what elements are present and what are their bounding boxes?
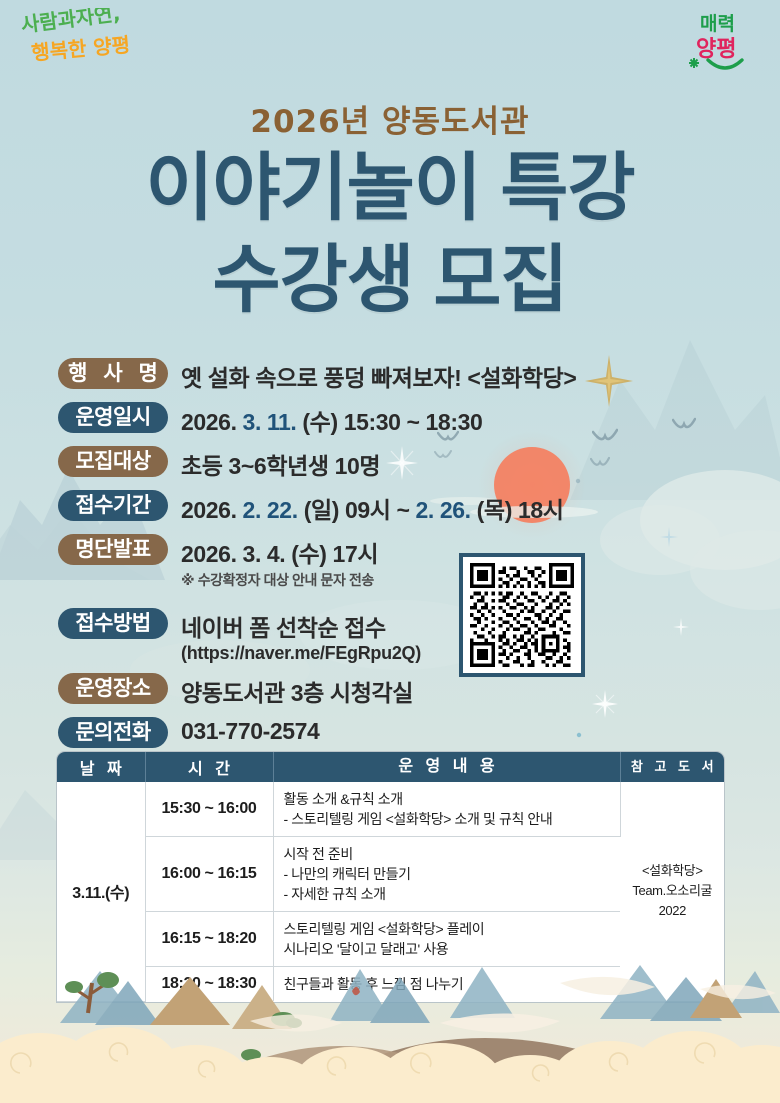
cell-time: 15:30 ~ 16:00 [145,782,273,837]
cell-time: 16:00 ~ 16:15 [145,837,273,912]
maeryeok-yangpyeong-logo: 매력 양평 [688,4,764,76]
info-row-event-name: 행 사 명 옛 설화 속으로 풍덩 빠져보자! <설화학당> [58,358,738,393]
period-suffix: (목) 18시 [471,497,564,523]
logo-left-line1: 사람과자연, [20,8,122,37]
qr-code-image [469,563,575,667]
info-label-event-name: 행 사 명 [58,358,168,389]
info-value-target: 초등 3~6학년생 10명 [181,446,380,481]
announcement-note: ※ 수강확정자 대상 안내 문자 전송 [181,570,378,590]
period-start: 2. 22. [243,497,298,523]
application-url[interactable]: (https://naver.me/FEgRpu2Q) [181,643,421,664]
content-line: - 스토리텔링 게임 <설화학당> 소개 및 규칙 안내 [284,809,610,829]
datetime-suffix: (수) 15:30 ~ 18:30 [296,409,482,435]
bottom-landscape [0,963,780,1103]
schedule-table-head: 날 짜 시 간 운 영 내 용 참 고 도 서 [57,752,724,782]
cell-content: 시작 전 준비 - 나만의 캐릭터 만들기 - 자세한 규칙 소개 [273,837,620,912]
table-row: 3.11.(수) 15:30 ~ 16:00 활동 소개 &규칙 소개 - 스토… [57,782,724,837]
content-line: - 자세한 규칙 소개 [284,884,611,904]
content-line: 활동 소개 &규칙 소개 [284,789,610,809]
info-row-announcement: 명단발표 2026. 3. 4. (수) 17시 ※ 수강확정자 대상 안내 문… [58,534,738,590]
content-line: 시작 전 준비 [284,844,611,864]
cell-content: 활동 소개 &규칙 소개 - 스토리텔링 게임 <설화학당> 소개 및 규칙 안… [273,782,620,837]
info-row-phone: 문의전화 031-770-2574 [58,717,738,748]
info-row-datetime: 운영일시 2026. 3. 11. (수) 15:30 ~ 18:30 [58,402,738,437]
period-prefix: 2026. [181,497,243,523]
content-line: 스토리텔링 게임 <설화학당> 플레이 [284,919,611,939]
table-header-row: 날 짜 시 간 운 영 내 용 참 고 도 서 [57,752,724,782]
info-label-datetime: 운영일시 [58,402,168,433]
reference-line: 2022 [631,901,715,921]
info-row-target: 모집대상 초등 3~6학년생 10명 [58,446,738,481]
th-content: 운 영 내 용 [273,752,620,782]
info-label-application-period: 접수기간 [58,490,168,521]
content-line: 시나리오 '달이고 달래고' 사용 [284,939,611,959]
reference-line: <설화학당> [631,861,715,881]
page-title: 이야기놀이 특강 수강생 모집 [0,142,780,326]
info-row-application-period: 접수기간 2026. 2. 22. (일) 09시 ~ 2. 26. (목) 1… [58,490,738,525]
logo-right-line2: 양평 [696,37,736,62]
th-reference: 참 고 도 서 [620,752,724,782]
info-label-target: 모집대상 [58,446,168,477]
yangpyeong-slogan-logo: 사람과자연, 행복한 양평 [14,8,164,72]
cloud-cluster [0,1027,780,1103]
method-text: 네이버 폼 선착순 접수 [181,615,386,641]
reference-line: Team.오소리굴 [631,881,715,901]
info-value-venue: 양동도서관 3층 시청각실 [181,673,413,708]
page-title-line1: 이야기놀이 특강 [145,146,634,229]
info-label-venue: 운영장소 [58,673,168,704]
cell-content: 스토리텔링 게임 <설화학당> 플레이 시나리오 '달이고 달래고' 사용 [273,912,620,967]
qr-code[interactable] [459,553,585,677]
info-label-application-method: 접수방법 [58,608,168,639]
info-value-datetime: 2026. 3. 11. (수) 15:30 ~ 18:30 [181,402,482,437]
period-end: 2. 26. [416,497,471,523]
th-time: 시 간 [145,752,273,782]
period-mid: (일) 09시 ~ [298,497,416,523]
logo-right-line1: 매력 [700,13,735,35]
logo-left-line2: 행복한 양평 [30,32,131,65]
announcement-date: 2026. 3. 4. (수) 17시 [181,541,378,567]
info-value-phone[interactable]: 031-770-2574 [181,717,319,745]
info-value-application-method: 네이버 폼 선착순 접수 (https://naver.me/FEgRpu2Q) [181,608,421,664]
info-row-venue: 운영장소 양동도서관 3층 시청각실 [58,673,738,708]
poster-root: 사람과자연, 행복한 양평 매력 양평 2026년 양동도서관 이야기놀이 특강… [0,0,780,1103]
info-label-phone: 문의전화 [58,717,168,748]
info-value-application-period: 2026. 2. 22. (일) 09시 ~ 2. 26. (목) 18시 [181,490,564,525]
datetime-prefix: 2026. [181,409,243,435]
page-title-line2: 수강생 모집 [0,234,780,326]
info-row-application-method: 접수방법 네이버 폼 선착순 접수 (https://naver.me/FEgR… [58,608,738,664]
content-line: - 나만의 캐릭터 만들기 [284,864,611,884]
info-list: 행 사 명 옛 설화 속으로 풍덩 빠져보자! <설화학당> 운영일시 2026… [58,358,738,757]
cell-time: 16:15 ~ 18:20 [145,912,273,967]
info-value-event-name: 옛 설화 속으로 풍덩 빠져보자! <설화학당> [181,358,576,393]
page-subtitle: 2026년 양동도서관 [0,96,780,141]
info-value-announcement: 2026. 3. 4. (수) 17시 ※ 수강확정자 대상 안내 문자 전송 [181,534,378,590]
info-label-announcement: 명단발표 [58,534,168,565]
datetime-highlight: 3. 11. [243,409,297,435]
th-date: 날 짜 [57,752,145,782]
